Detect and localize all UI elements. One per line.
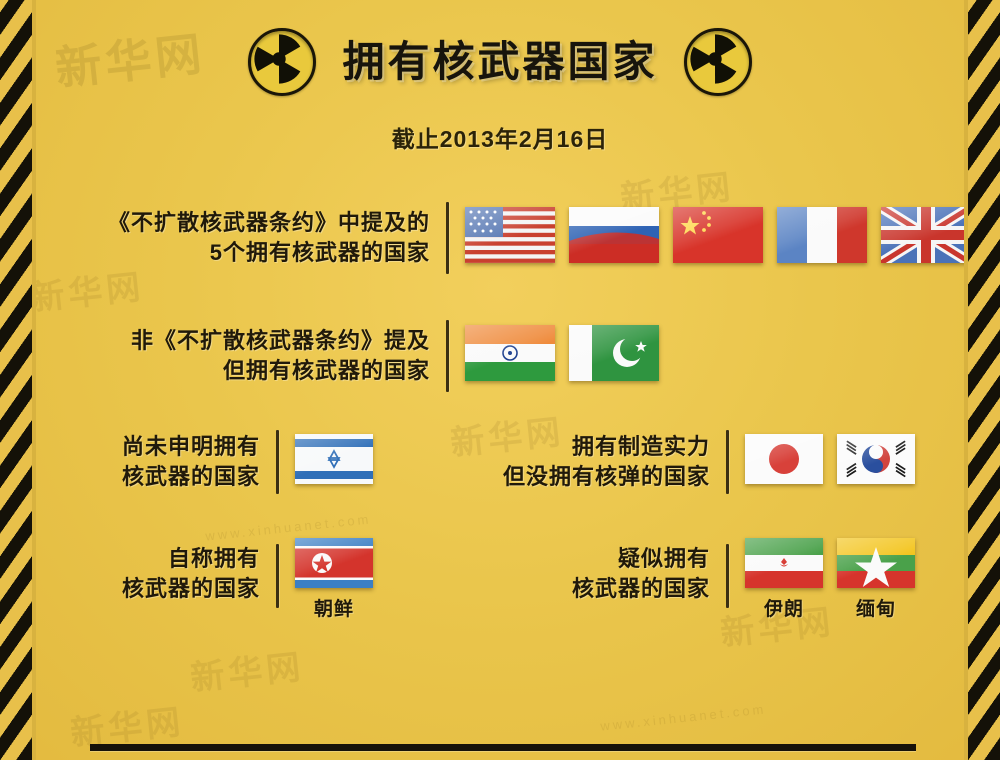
row-label-line2: 但没拥有核弹的国家 <box>460 462 710 492</box>
flag-france <box>777 207 867 263</box>
row-self-declared: 自称拥有 核武器的国家 <box>60 538 373 621</box>
hazard-border-edge-left <box>32 0 36 760</box>
flag-caption: 缅甸 <box>856 594 896 621</box>
row-label: 尚未申明拥有 核武器的国家 <box>60 432 260 493</box>
row-label: 《不扩散核武器条约》中提及的 5个拥有核武器的国家 <box>60 208 430 269</box>
flag-item-us <box>465 207 555 269</box>
flag-pakistan <box>569 325 659 381</box>
row-label: 疑似拥有 核武器的国家 <box>480 538 710 605</box>
bottom-rule <box>90 744 916 751</box>
row-label-line1: 拥有制造实力 <box>460 432 710 462</box>
row-label-line1: 《不扩散核武器条约》中提及的 <box>60 208 430 238</box>
flag-israel <box>295 434 373 484</box>
flag-iran <box>745 538 823 588</box>
row-npt-five: 《不扩散核武器条约》中提及的 5个拥有核武器的国家 <box>60 202 971 274</box>
row-capable-no-weapon: 拥有制造实力 但没拥有核弹的国家 <box>460 430 915 494</box>
row-label: 自称拥有 核武器的国家 <box>60 538 260 605</box>
flag-item-fr <box>777 207 867 269</box>
row-label: 拥有制造实力 但没拥有核弹的国家 <box>460 432 710 493</box>
flag-item-cn <box>673 207 763 269</box>
poster-header: 拥有核武器国家 <box>0 28 1000 96</box>
row-label: 非《不扩散核武器条约》提及 但拥有核武器的国家 <box>60 326 430 387</box>
flag-south-korea <box>837 434 915 484</box>
row-label-line2: 但拥有核武器的国家 <box>60 356 430 386</box>
row-divider <box>276 430 279 494</box>
flag-item-kr <box>837 434 915 490</box>
row-label-line2: 核武器的国家 <box>60 574 260 604</box>
flag-group: 朝鲜 <box>295 538 373 621</box>
flag-group <box>745 434 915 490</box>
flag-japan <box>745 434 823 484</box>
row-divider <box>726 430 729 494</box>
watermark-xinhua: 新华网 <box>188 639 306 700</box>
infographic-poster: 新华网 新华网 新华网 新华网 新华网 新华网 新华网 www.xinhuane… <box>0 0 1000 760</box>
flag-item-il <box>295 434 373 490</box>
row-suspected: 疑似拥有 核武器的国家 伊朗 <box>480 538 915 621</box>
row-label-line2: 核武器的国家 <box>480 574 710 604</box>
hazard-stripe-border-right <box>968 0 1000 760</box>
flag-caption: 朝鲜 <box>314 594 354 621</box>
flag-item-ru <box>569 207 659 269</box>
row-divider <box>446 202 449 274</box>
row-label-line1: 尚未申明拥有 <box>60 432 260 462</box>
flag-item-jp <box>745 434 823 490</box>
flag-item-pk <box>569 325 659 387</box>
flag-india <box>465 325 555 381</box>
radiation-icon <box>684 28 752 96</box>
watermark-url: www.xinhuanet.com <box>600 701 767 733</box>
flag-item-ir: 伊朗 <box>745 538 823 621</box>
row-undeclared: 尚未申明拥有 核武器的国家 <box>60 430 373 494</box>
row-label-line1: 疑似拥有 <box>480 544 710 574</box>
row-label-line1: 自称拥有 <box>60 544 260 574</box>
flag-north-korea <box>295 538 373 588</box>
hazard-stripe-border-left <box>0 0 32 760</box>
flag-item-kp: 朝鲜 <box>295 538 373 621</box>
row-label-line2: 5个拥有核武器的国家 <box>60 238 430 268</box>
flag-united-kingdom <box>881 207 971 263</box>
flag-group: 伊朗 缅甸 <box>745 538 915 621</box>
row-label-line2: 核武器的国家 <box>60 462 260 492</box>
flag-china <box>673 207 763 263</box>
flag-caption: 伊朗 <box>764 594 804 621</box>
row-divider <box>276 544 279 608</box>
row-divider <box>446 320 449 392</box>
row-divider <box>726 544 729 608</box>
flag-group <box>465 325 659 387</box>
flag-russia <box>569 207 659 263</box>
row-label-line1: 非《不扩散核武器条约》提及 <box>60 326 430 356</box>
flag-myanmar <box>837 538 915 588</box>
flag-item-gb <box>881 207 971 269</box>
hazard-border-edge-right <box>964 0 968 760</box>
poster-subtitle: 截止2013年2月16日 <box>0 120 1000 154</box>
row-non-npt: 非《不扩散核武器条约》提及 但拥有核武器的国家 <box>60 320 659 392</box>
flag-item-in <box>465 325 555 387</box>
page-title: 拥有核武器国家 <box>342 41 657 83</box>
flag-united-states <box>465 207 555 263</box>
flag-group <box>465 207 971 269</box>
radiation-icon <box>248 28 316 96</box>
flag-item-mm: 缅甸 <box>837 538 915 621</box>
flag-group <box>295 434 373 490</box>
